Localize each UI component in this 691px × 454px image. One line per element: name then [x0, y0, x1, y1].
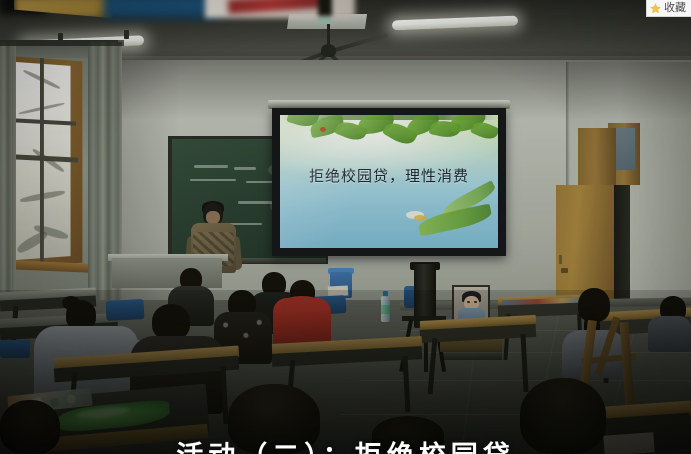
foreground-student-head	[0, 400, 60, 454]
student-head	[152, 304, 190, 340]
portrait-eye	[467, 301, 470, 303]
door-opening	[614, 185, 630, 310]
blurred-foreground-strap	[318, 0, 332, 16]
portrait-eye	[474, 301, 477, 303]
paper-on-desk	[603, 432, 654, 454]
door-lock	[559, 255, 562, 264]
classroom-chair	[106, 299, 145, 321]
favorite-button[interactable]: 收藏	[646, 0, 691, 17]
chalk-writing	[194, 165, 228, 168]
ceiling-fan-hub	[321, 44, 336, 57]
favorite-label: 收藏	[664, 2, 686, 14]
chalk-writing	[246, 181, 274, 183]
curtain-rod	[0, 40, 124, 46]
ceiling-fan-rod	[327, 24, 330, 46]
star-icon	[650, 3, 661, 14]
slide-flower-center	[414, 215, 426, 221]
projection-screen: 拒绝校园贷，理性消费	[280, 115, 498, 248]
curtain-left	[0, 42, 16, 310]
light-mount	[124, 30, 129, 39]
student-hood	[281, 296, 323, 312]
student-body	[648, 316, 691, 352]
chalk-writing	[234, 167, 256, 170]
slide-ladybug	[320, 127, 326, 132]
podium	[112, 258, 222, 288]
blurred-foreground-blue-object	[104, 0, 220, 20]
classroom-photo: 拒绝校园贷，理性消费	[0, 0, 691, 454]
classroom-chair	[0, 340, 30, 358]
foreground-student-head	[372, 416, 444, 454]
window-mullion-vertical	[40, 58, 44, 264]
foreground-student-head	[520, 378, 606, 454]
water-bottle-label	[381, 305, 390, 314]
slide-title: 拒绝校园贷，理性消费	[280, 165, 498, 186]
chalk-writing	[190, 179, 236, 181]
foreground-student-head	[228, 384, 320, 454]
door-transom-window	[613, 128, 635, 170]
door-handle	[561, 268, 568, 273]
